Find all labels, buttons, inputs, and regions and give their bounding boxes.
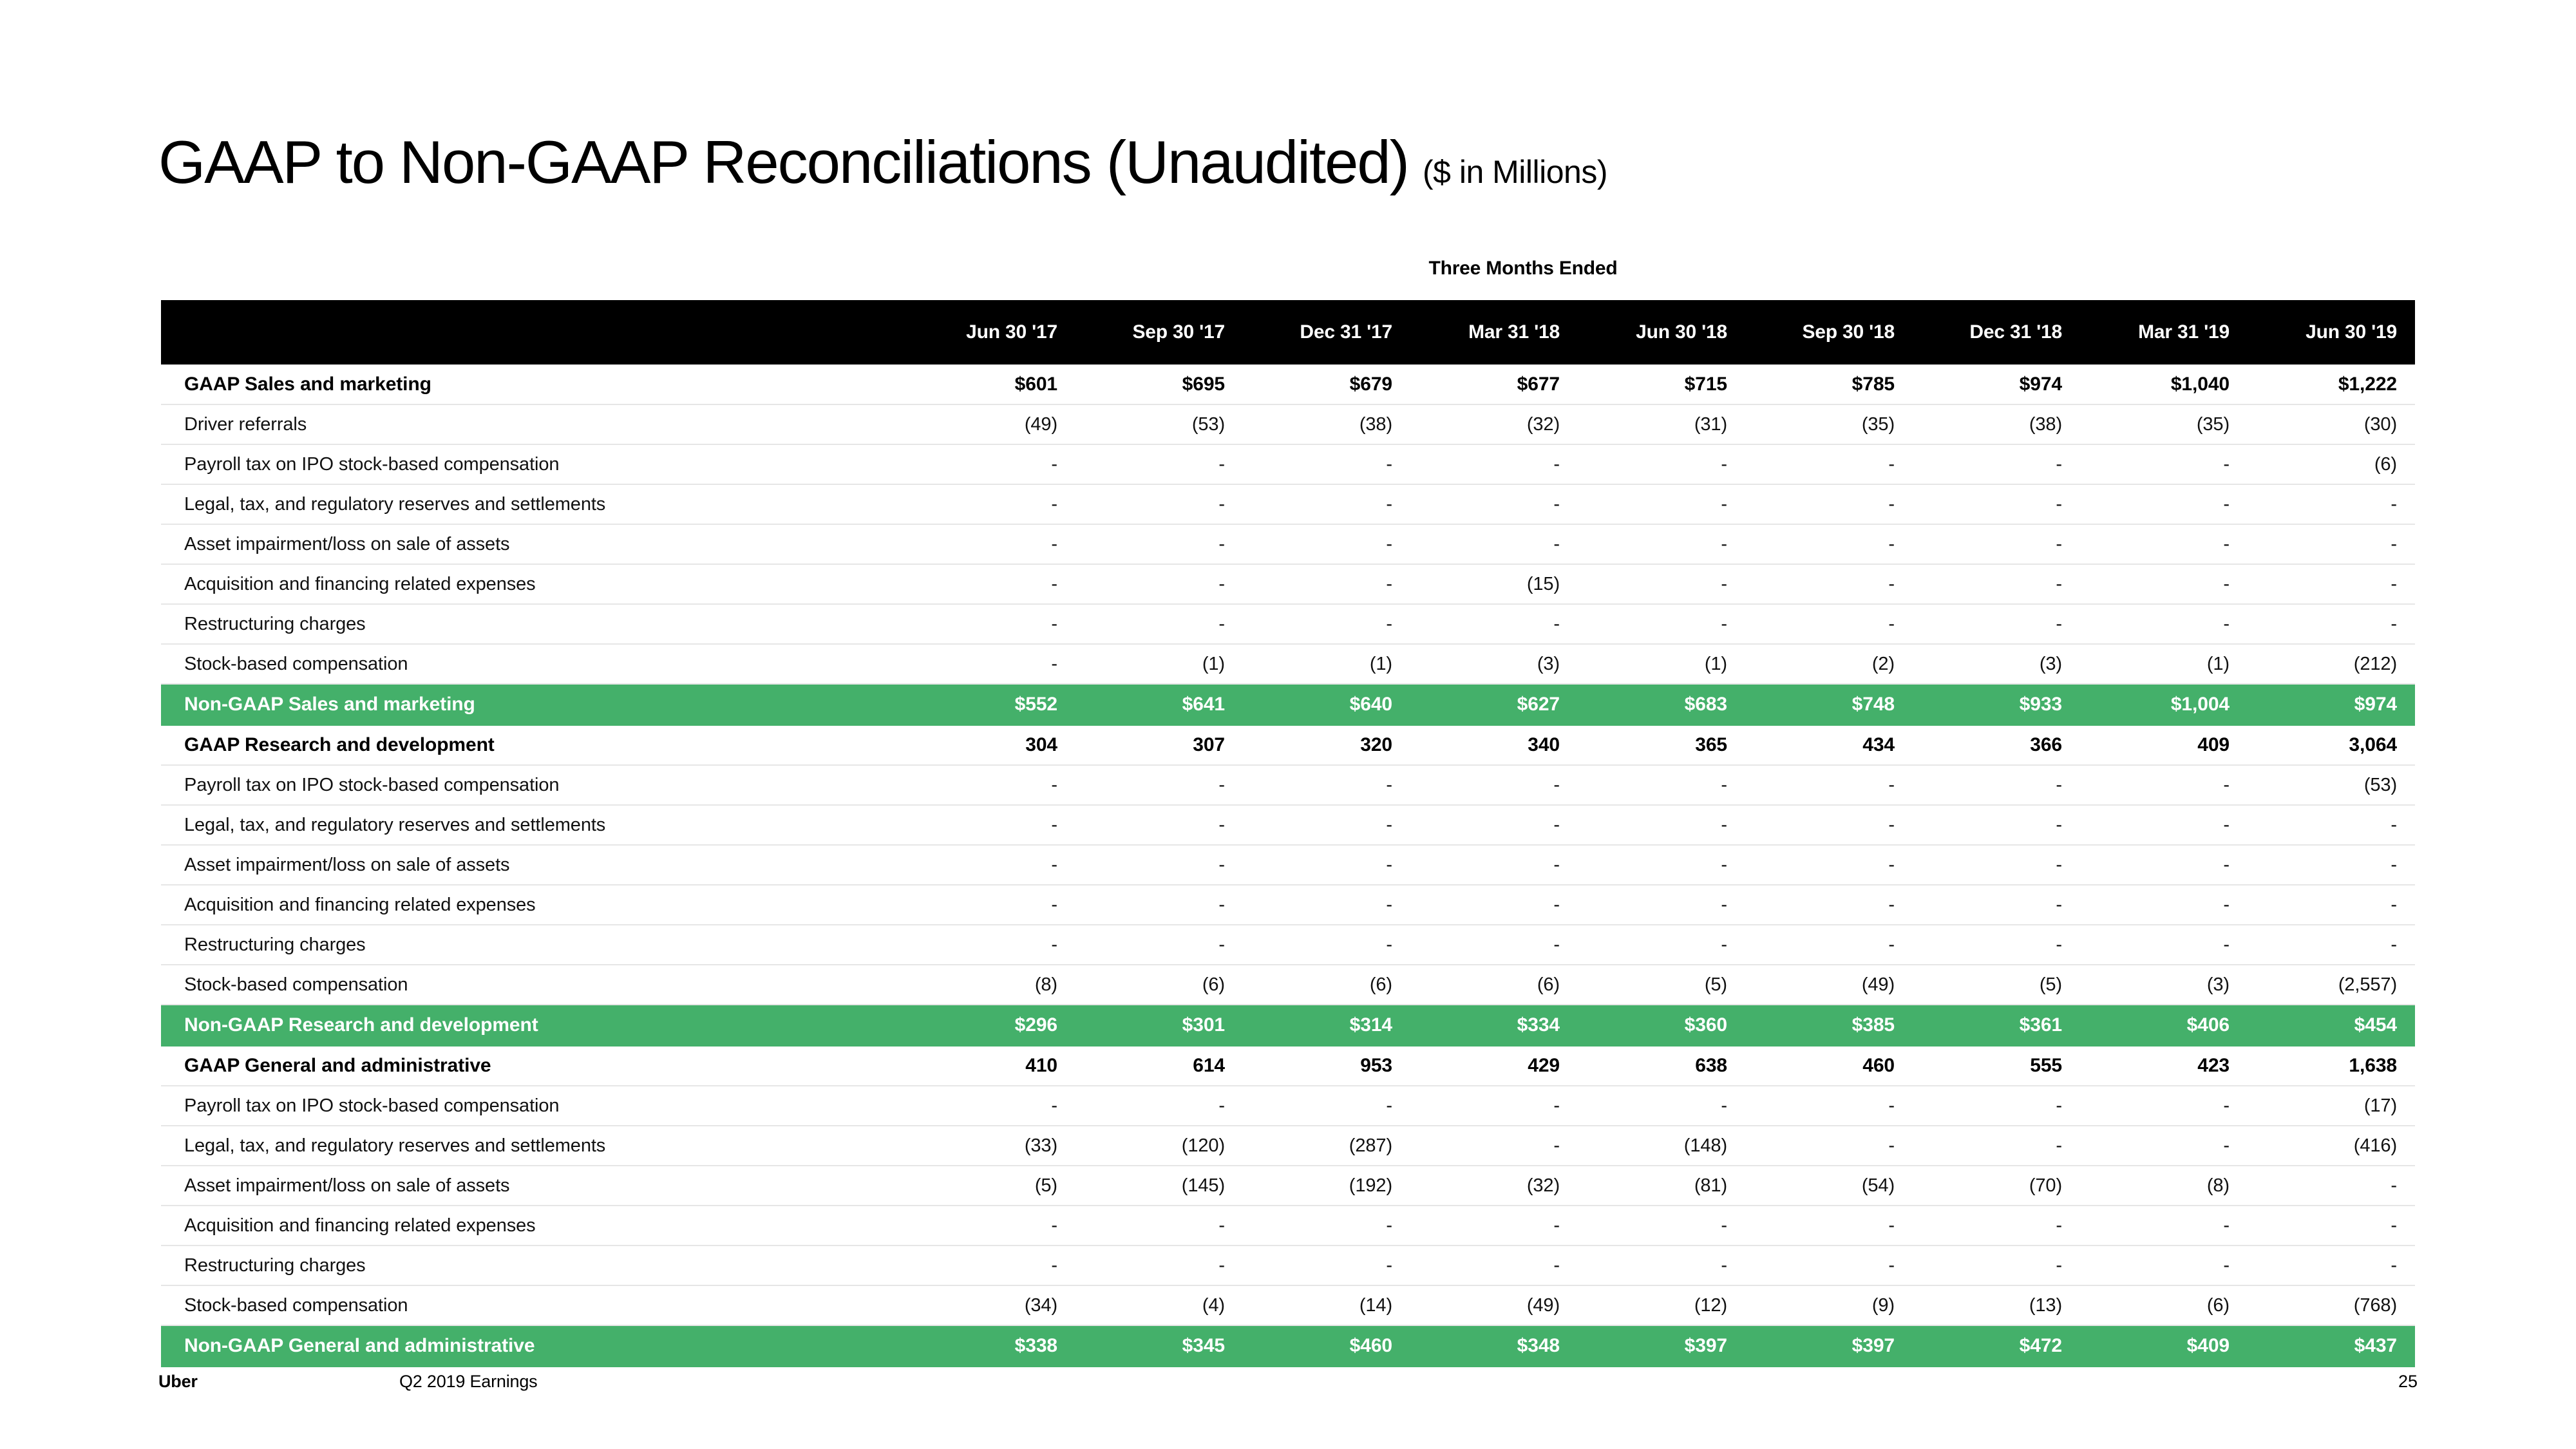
row-value: - [2248,1206,2415,1245]
row-value: - [1913,1086,2080,1126]
row-value: - [2248,1166,2415,1206]
row-value: - [2248,484,2415,524]
row-value: - [1745,444,1913,484]
table-row-subtotal: GAAP Sales and marketing$601$695$679$677… [161,365,2415,404]
row-value: $974 [2248,684,2415,725]
row-value: - [1913,484,2080,524]
row-label: Payroll tax on IPO stock-based compensat… [161,765,908,805]
row-value: $677 [1410,365,1578,404]
row-value: $454 [2248,1005,2415,1046]
row-value: $296 [908,1005,1075,1046]
row-value: - [1913,604,2080,644]
row-value: $695 [1075,365,1243,404]
row-value: - [1243,845,1410,885]
row-value: 340 [1410,725,1578,765]
row-value: - [908,845,1075,885]
row-value: - [908,604,1075,644]
row-value: (49) [1745,965,1913,1005]
row-label: Non-GAAP Sales and marketing [161,684,908,725]
row-value: $460 [1243,1325,1410,1367]
row-value: - [908,885,1075,925]
row-value: - [1075,1206,1243,1245]
row-value: - [1913,1126,2080,1166]
row-value: (6) [1243,965,1410,1005]
row-label: Restructuring charges [161,925,908,965]
row-value: - [1243,524,1410,564]
table-header: Jun 30 '17Sep 30 '17Dec 31 '17Mar 31 '18… [161,300,2415,365]
row-value: - [1745,1126,1913,1166]
row-value: - [1243,765,1410,805]
row-value: - [1913,444,2080,484]
row-value: - [1075,1245,1243,1285]
row-value: - [1075,564,1243,604]
row-value: - [1745,1245,1913,1285]
table-row-total: Non-GAAP Research and development$296$30… [161,1005,2415,1046]
table-row: Payroll tax on IPO stock-based compensat… [161,765,2415,805]
row-value: - [1410,1245,1578,1285]
row-value: $640 [1243,684,1410,725]
row-value: $360 [1578,1005,1745,1046]
row-value: 614 [1075,1046,1243,1086]
table-row: Acquisition and financing related expens… [161,1206,2415,1245]
row-value: $385 [1745,1005,1913,1046]
table-row: Legal, tax, and regulatory reserves and … [161,484,2415,524]
table-row: Restructuring charges--------- [161,1245,2415,1285]
row-value: (70) [1913,1166,2080,1206]
row-value: - [1745,1206,1913,1245]
row-value: (17) [2248,1086,2415,1126]
row-value: - [1243,604,1410,644]
row-value: 1,638 [2248,1046,2415,1086]
row-value: - [1745,484,1913,524]
row-value: - [1745,1086,1913,1126]
row-value: - [2080,604,2248,644]
row-label: Acquisition and financing related expens… [161,885,908,925]
row-value: - [1578,604,1745,644]
row-value: - [908,925,1075,965]
page-title-units: ($ in Millions) [1423,156,1607,188]
row-value: (15) [1410,564,1578,604]
row-value: 953 [1243,1046,1410,1086]
table-row: Legal, tax, and regulatory reserves and … [161,1126,2415,1166]
row-value: - [2248,564,2415,604]
row-value: $334 [1410,1005,1578,1046]
row-value: - [2080,484,2248,524]
row-value: - [1410,1206,1578,1245]
row-value: - [908,644,1075,684]
row-value: 423 [2080,1046,2248,1086]
row-label: Non-GAAP Research and development [161,1005,908,1046]
row-value: - [1410,484,1578,524]
row-value: (38) [1243,404,1410,444]
row-label: GAAP General and administrative [161,1046,908,1086]
row-value: $683 [1578,684,1745,725]
row-value: $601 [908,365,1075,404]
row-value: (212) [2248,644,2415,684]
row-value: - [1913,885,2080,925]
row-value: - [2080,885,2248,925]
row-value: - [1075,444,1243,484]
row-value: - [1578,1206,1745,1245]
column-header-period: Mar 31 '19 [2080,300,2248,365]
row-value: (3) [1410,644,1578,684]
row-value: - [1913,1206,2080,1245]
row-value: - [908,444,1075,484]
row-value: $406 [2080,1005,2248,1046]
row-value: - [2248,805,2415,845]
row-value: - [1243,925,1410,965]
table-row: Acquisition and financing related expens… [161,564,2415,604]
table-row: Driver referrals(49)(53)(38)(32)(31)(35)… [161,404,2415,444]
row-label: Stock-based compensation [161,1285,908,1325]
row-value: $1,222 [2248,365,2415,404]
row-label: Legal, tax, and regulatory reserves and … [161,805,908,845]
row-value: $348 [1410,1325,1578,1367]
row-value: - [1075,805,1243,845]
row-value: - [1913,564,2080,604]
row-value: $627 [1410,684,1578,725]
row-value: (14) [1243,1285,1410,1325]
row-value: (81) [1578,1166,1745,1206]
row-value: (3) [2080,965,2248,1005]
row-label: Legal, tax, and regulatory reserves and … [161,1126,908,1166]
page-title: GAAP to Non-GAAP Reconciliations (Unaudi… [158,132,1607,193]
row-value: - [1410,925,1578,965]
row-value: (120) [1075,1126,1243,1166]
row-value: (2,557) [2248,965,2415,1005]
row-value: - [1745,604,1913,644]
slide: GAAP to Non-GAAP Reconciliations (Unaudi… [0,0,2576,1449]
row-value: - [908,1206,1075,1245]
table-row: Restructuring charges--------- [161,604,2415,644]
row-value: $974 [1913,365,2080,404]
row-value: (287) [1243,1126,1410,1166]
row-value: - [1578,805,1745,845]
row-value: - [2080,1206,2248,1245]
row-value: $338 [908,1325,1075,1367]
table-row: Stock-based compensation(8)(6)(6)(6)(5)(… [161,965,2415,1005]
row-value: (145) [1075,1166,1243,1206]
row-value: - [1410,1086,1578,1126]
row-value: $933 [1913,684,2080,725]
row-value: - [2080,765,2248,805]
row-value: $1,004 [2080,684,2248,725]
row-label: GAAP Sales and marketing [161,365,908,404]
row-value: - [1410,524,1578,564]
row-value: - [1578,444,1745,484]
row-label: Payroll tax on IPO stock-based compensat… [161,444,908,484]
row-value: - [1410,1126,1578,1166]
row-value: (1) [2080,644,2248,684]
row-value: - [2080,1086,2248,1126]
row-value: - [1745,765,1913,805]
table-row: Asset impairment/loss on sale of assets(… [161,1166,2415,1206]
row-value: (2) [1745,644,1913,684]
row-value: - [1745,925,1913,965]
row-value: - [908,805,1075,845]
row-value: - [1578,925,1745,965]
row-value: - [1745,885,1913,925]
row-label: Acquisition and financing related expens… [161,564,908,604]
row-value: $785 [1745,365,1913,404]
row-value: (49) [1410,1285,1578,1325]
row-value: - [1243,484,1410,524]
row-value: $679 [1243,365,1410,404]
row-value: $552 [908,684,1075,725]
row-value: - [908,1086,1075,1126]
row-value: (12) [1578,1285,1745,1325]
row-value: $361 [1913,1005,2080,1046]
row-value: $748 [1745,684,1913,725]
column-header-period: Jun 30 '17 [908,300,1075,365]
column-header-period: Mar 31 '18 [1410,300,1578,365]
row-value: (6) [2080,1285,2248,1325]
row-value: (34) [908,1285,1075,1325]
row-value: 638 [1578,1046,1745,1086]
row-value: 410 [908,1046,1075,1086]
row-value: - [1075,845,1243,885]
column-header-period: Dec 31 '18 [1913,300,2080,365]
period-caption: Three Months Ended [161,258,2415,300]
row-value: (33) [908,1126,1075,1166]
row-value: (35) [2080,404,2248,444]
table-row: Stock-based compensation-(1)(1)(3)(1)(2)… [161,644,2415,684]
row-value: - [1578,765,1745,805]
row-value: - [1913,805,2080,845]
row-value: $437 [2248,1325,2415,1367]
row-value: - [1745,845,1913,885]
row-value: $472 [1913,1325,2080,1367]
row-value: (6) [1075,965,1243,1005]
footer-deck-name: Q2 2019 Earnings [399,1372,537,1392]
row-value: - [1243,1206,1410,1245]
row-value: - [1578,885,1745,925]
row-value: - [908,1245,1075,1285]
row-value: (148) [1578,1126,1745,1166]
row-value: - [1578,524,1745,564]
row-value: (8) [2080,1166,2248,1206]
row-value: 3,064 [2248,725,2415,765]
row-value: - [1913,845,2080,885]
column-header-period: Sep 30 '17 [1075,300,1243,365]
row-value: (5) [1913,965,2080,1005]
row-value: 320 [1243,725,1410,765]
row-value: - [1075,1086,1243,1126]
row-value: - [1578,1245,1745,1285]
row-value: (5) [908,1166,1075,1206]
table-row: Payroll tax on IPO stock-based compensat… [161,1086,2415,1126]
row-value: - [2080,925,2248,965]
row-value: - [1243,885,1410,925]
row-label: Stock-based compensation [161,644,908,684]
row-value: 365 [1578,725,1745,765]
table-row-total: Non-GAAP Sales and marketing$552$641$640… [161,684,2415,725]
row-value: (13) [1913,1285,2080,1325]
row-value: (1) [1243,644,1410,684]
row-value: 409 [2080,725,2248,765]
footer-page-number: 25 [2398,1372,2418,1392]
reconciliation-table-wrapper: Three Months Ended Jun 30 '17Sep 30 '17D… [161,258,2415,1367]
row-value: 307 [1075,725,1243,765]
row-value: $301 [1075,1005,1243,1046]
row-value: (32) [1410,1166,1578,1206]
column-header-label [161,300,908,365]
row-value: (54) [1745,1166,1913,1206]
row-value: - [1243,805,1410,845]
row-value: - [2248,845,2415,885]
row-label: Driver referrals [161,404,908,444]
row-value: - [1578,845,1745,885]
table-row: Legal, tax, and regulatory reserves and … [161,805,2415,845]
row-value: - [1913,524,2080,564]
row-value: (8) [908,965,1075,1005]
row-value: - [2080,805,2248,845]
row-value: (1) [1075,644,1243,684]
row-value: 304 [908,725,1075,765]
row-value: - [1913,925,2080,965]
row-value: - [1243,564,1410,604]
column-header-period: Dec 31 '17 [1243,300,1410,365]
row-value: - [2080,524,2248,564]
row-value: (32) [1410,404,1578,444]
row-value: - [1578,564,1745,604]
row-value: - [2248,885,2415,925]
row-value: 555 [1913,1046,2080,1086]
row-value: (1) [1578,644,1745,684]
row-label: Stock-based compensation [161,965,908,1005]
row-value: (30) [2248,404,2415,444]
row-value: - [1410,885,1578,925]
row-value: 429 [1410,1046,1578,1086]
footer-brand: Uber [158,1372,198,1392]
table-row: Asset impairment/loss on sale of assets-… [161,524,2415,564]
row-value: - [2248,1245,2415,1285]
column-header-period: Jun 30 '18 [1578,300,1745,365]
row-value: - [2248,524,2415,564]
row-value: 366 [1913,725,2080,765]
row-value: - [1410,444,1578,484]
row-label: Payroll tax on IPO stock-based compensat… [161,1086,908,1126]
row-value: - [1243,1086,1410,1126]
row-value: - [1075,925,1243,965]
row-value: $397 [1578,1325,1745,1367]
row-value: - [1075,524,1243,564]
row-value: - [908,765,1075,805]
row-value: (49) [908,404,1075,444]
row-value: (53) [1075,404,1243,444]
column-header-period: Sep 30 '18 [1745,300,1913,365]
row-value: (3) [1913,644,2080,684]
row-value: - [1913,1245,2080,1285]
row-value: - [2080,564,2248,604]
row-value: (416) [2248,1126,2415,1166]
row-value: - [2080,1245,2248,1285]
row-value: - [1745,805,1913,845]
row-label: Asset impairment/loss on sale of assets [161,1166,908,1206]
row-value: - [1075,765,1243,805]
table-row: Payroll tax on IPO stock-based compensat… [161,444,2415,484]
row-value: - [908,524,1075,564]
row-value: - [908,484,1075,524]
row-value: - [1075,484,1243,524]
row-label: Acquisition and financing related expens… [161,1206,908,1245]
row-value: - [1410,805,1578,845]
column-header-period: Jun 30 '19 [2248,300,2415,365]
row-value: $345 [1075,1325,1243,1367]
row-value: (6) [1410,965,1578,1005]
table-row-total: Non-GAAP General and administrative$338$… [161,1325,2415,1367]
table-row: Acquisition and financing related expens… [161,885,2415,925]
reconciliation-table: Jun 30 '17Sep 30 '17Dec 31 '17Mar 31 '18… [161,300,2415,1367]
row-value: (9) [1745,1285,1913,1325]
row-value: - [1745,564,1913,604]
row-value: (6) [2248,444,2415,484]
row-value: 460 [1745,1046,1913,1086]
row-label: GAAP Research and development [161,725,908,765]
row-value: $397 [1745,1325,1913,1367]
row-value: - [908,564,1075,604]
row-value: - [1913,765,2080,805]
row-value: $409 [2080,1325,2248,1367]
row-value: - [1410,604,1578,644]
row-value: (38) [1913,404,2080,444]
row-value: - [1075,885,1243,925]
row-value: $1,040 [2080,365,2248,404]
row-value: - [1243,1245,1410,1285]
table-row: Restructuring charges--------- [161,925,2415,965]
page-title-text: GAAP to Non-GAAP Reconciliations (Unaudi… [158,132,1408,193]
slide-footer: Uber Q2 2019 Earnings 25 [0,1372,2576,1410]
row-label: Legal, tax, and regulatory reserves and … [161,484,908,524]
row-value: - [2248,604,2415,644]
row-value: (192) [1243,1166,1410,1206]
row-value: (35) [1745,404,1913,444]
row-value: $641 [1075,684,1243,725]
row-value: - [2080,1126,2248,1166]
row-value: (31) [1578,404,1745,444]
row-value: - [1578,484,1745,524]
row-value: $715 [1578,365,1745,404]
row-value: - [1745,524,1913,564]
row-label: Asset impairment/loss on sale of assets [161,524,908,564]
row-value: - [1243,444,1410,484]
row-value: - [1578,1086,1745,1126]
table-header-row: Jun 30 '17Sep 30 '17Dec 31 '17Mar 31 '18… [161,300,2415,365]
row-value: - [1410,765,1578,805]
row-value: (768) [2248,1285,2415,1325]
row-value: - [1075,604,1243,644]
row-value: (4) [1075,1285,1243,1325]
row-value: - [1410,845,1578,885]
row-value: - [2080,444,2248,484]
table-body: GAAP Sales and marketing$601$695$679$677… [161,365,2415,1367]
table-row-subtotal: GAAP Research and development30430732034… [161,725,2415,765]
row-value: - [2080,845,2248,885]
row-value: (5) [1578,965,1745,1005]
row-value: (53) [2248,765,2415,805]
table-row-subtotal: GAAP General and administrative410614953… [161,1046,2415,1086]
row-label: Non-GAAP General and administrative [161,1325,908,1367]
table-row: Asset impairment/loss on sale of assets-… [161,845,2415,885]
row-value: 434 [1745,725,1913,765]
row-label: Restructuring charges [161,604,908,644]
row-value: $314 [1243,1005,1410,1046]
row-label: Restructuring charges [161,1245,908,1285]
table-row: Stock-based compensation(34)(4)(14)(49)(… [161,1285,2415,1325]
row-value: - [2248,925,2415,965]
row-label: Asset impairment/loss on sale of assets [161,845,908,885]
